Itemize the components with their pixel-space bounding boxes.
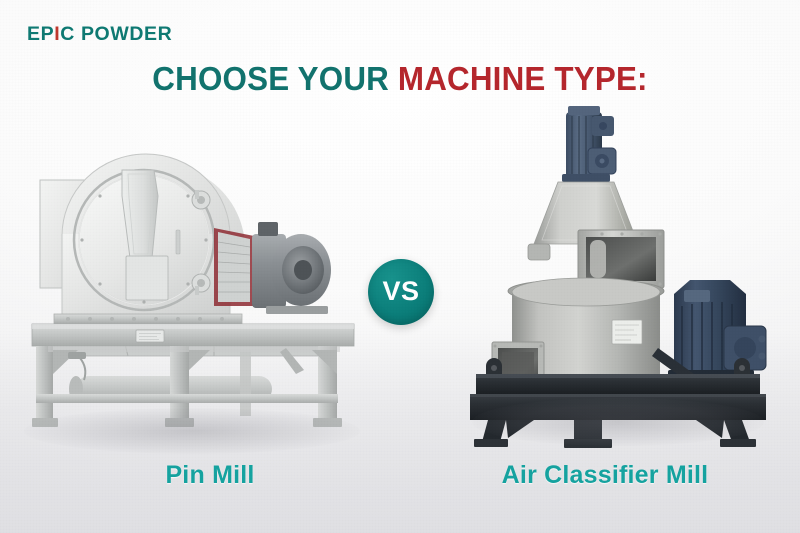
page-title: CHOOSE YOUR MACHINE TYPE: <box>20 62 780 95</box>
acm-motor-terminal-hub <box>734 337 756 359</box>
pin-mill-door-nameplate <box>176 230 180 254</box>
acm-base-gussets <box>506 420 724 438</box>
acm-side-nozzle <box>528 244 550 260</box>
brand-logo: EPIC POWDER <box>27 25 172 45</box>
pin-mill-housing-flange <box>54 314 242 324</box>
acm-top-motor-terminal-cap <box>599 122 607 130</box>
acm-top-motor-cap <box>568 106 600 115</box>
pin-mill-inlet-flange <box>126 256 168 300</box>
pin-mill-frame-top-highlight <box>32 324 354 329</box>
acm-chamber-top-rim <box>512 278 660 306</box>
pin-mill-conduit <box>80 358 85 380</box>
pin-mill-motor-hub <box>294 260 312 280</box>
pin-mill-caption: Pin Mill <box>60 461 360 490</box>
acm-motor-cable-gland-bottom <box>759 353 766 360</box>
pin-mill-illustration <box>18 118 368 448</box>
pin-mill-motor-terminal-box <box>258 222 278 236</box>
acm-base-front-highlight <box>470 394 766 397</box>
pin-mill-nameplate <box>136 330 164 342</box>
brand-logo-part1: EP <box>27 23 54 45</box>
poster-canvas: EPIC POWDER CHOOSE YOUR MACHINE TYPE: <box>0 0 800 533</box>
brand-logo-part2: C POWDER <box>60 23 172 45</box>
vs-label: VS <box>382 278 419 305</box>
acm-gearbox-shaft <box>600 159 605 164</box>
acm-base-front-beam <box>470 394 766 420</box>
page-title-teal-segment: CHOOSE YOUR <box>152 60 389 97</box>
pin-mill-junction-box <box>68 352 86 359</box>
page-title-red-segment: MACHINE TYPE: <box>398 60 648 97</box>
acm-motor-base-plate <box>562 174 610 182</box>
acm-base-top-highlight <box>476 374 760 378</box>
air-classifier-mill-caption: Air Classifier Mill <box>440 461 770 490</box>
acm-motor-label-plate <box>684 290 710 302</box>
acm-classifier-wheel <box>590 240 606 278</box>
acm-illustration <box>462 98 774 450</box>
acm-motor-cable-gland-top <box>759 336 766 343</box>
vs-divider-badge: VS <box>368 259 434 325</box>
air-classifier-mill-image <box>462 98 774 450</box>
pin-mill-image <box>18 118 368 448</box>
acm-nameplate <box>612 320 642 344</box>
pin-mill-motor-mount <box>266 306 328 314</box>
pin-mill-lower-rail <box>36 394 338 403</box>
